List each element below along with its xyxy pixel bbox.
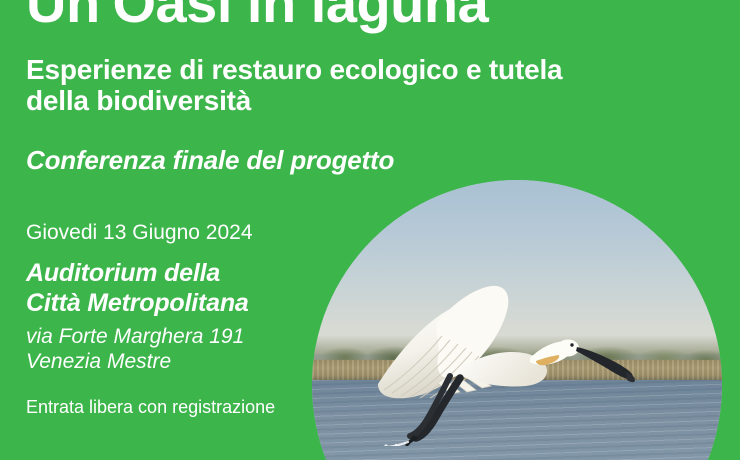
event-date: Giovedi 13 Giugno 2024 — [26, 221, 686, 245]
venue-name: Auditorium della Città Metropolitana — [26, 258, 686, 318]
poster-text-column: Un'Oasi in laguna Esperienze di restauro… — [26, 0, 686, 418]
venue-line-1: Auditorium della — [26, 258, 686, 288]
event-poster: Un'Oasi in laguna Esperienze di restauro… — [0, 0, 740, 460]
event-kicker: Conferenza finale del progetto — [26, 146, 686, 174]
subtitle-line-2: della biodiversità — [26, 85, 666, 116]
page-title: Un'Oasi in laguna — [26, 0, 686, 32]
right-edge-mask — [722, 0, 740, 460]
venue-line-2: Città Metropolitana — [26, 288, 686, 318]
entry-info: Entrata libera con registrazione — [26, 397, 686, 418]
venue-address: via Forte Marghera 191 Venezia Mestre — [26, 324, 686, 374]
subtitle-line-1: Esperienze di restauro ecologico e tutel… — [26, 54, 666, 85]
address-line-2: Venezia Mestre — [26, 349, 686, 374]
address-line-1: via Forte Marghera 191 — [26, 324, 686, 349]
poster-subtitle: Esperienze di restauro ecologico e tutel… — [26, 54, 666, 116]
